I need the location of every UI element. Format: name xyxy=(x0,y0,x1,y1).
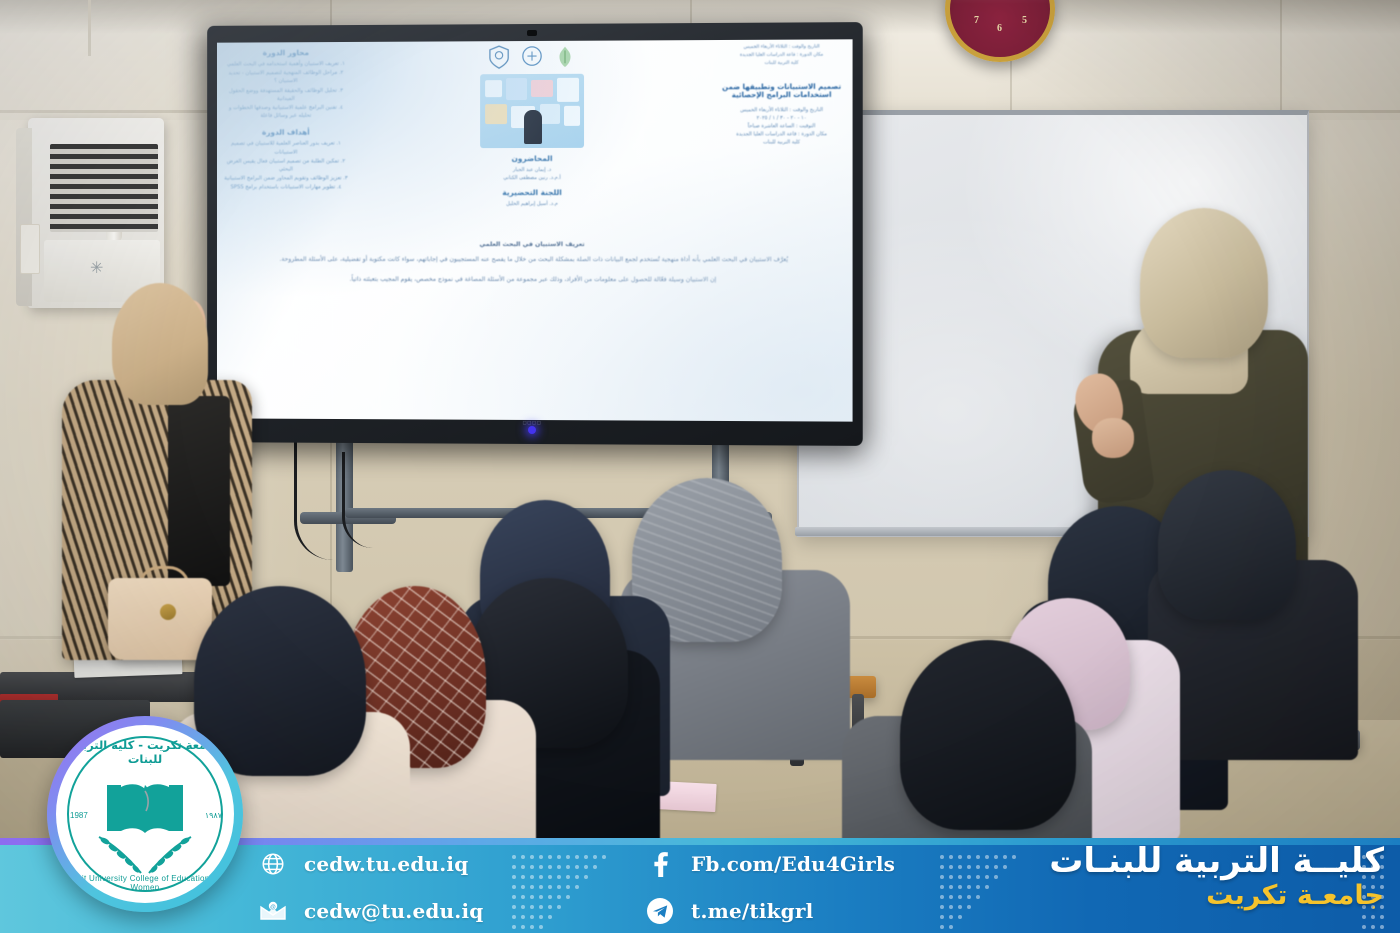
student-hijab-dark xyxy=(1158,470,1296,620)
dot-pattern-mid xyxy=(940,852,1021,933)
university-logo-seal: جامعة تكريت - كلية التربية للبنات 1987 ١… xyxy=(47,716,243,912)
slide-institution-logos xyxy=(472,45,592,70)
slide-coordinator-label: اللجنة التحضيرية xyxy=(472,188,592,197)
slide-topic-item: ٢. مراحل الوظائف المنهجية لتصميم الاستبي… xyxy=(223,69,349,86)
slide-presenter-name: د. إيمان عبد الجبار xyxy=(472,166,592,174)
board-cable xyxy=(294,440,333,560)
wall-switch xyxy=(20,224,40,274)
presentation-screen[interactable]: محاور الدورة ١. تعريف الاستبيان وأهمية ا… xyxy=(217,39,853,421)
svg-text:@: @ xyxy=(270,904,276,910)
seal-arabic-text: جامعة تكريت - كلية التربية للبنات xyxy=(56,738,234,766)
presenter-hijab xyxy=(1140,208,1268,358)
board-cable xyxy=(342,452,373,548)
college-name-arabic: كليــة التربية للبنـات xyxy=(1024,842,1384,880)
handbag-clasp xyxy=(160,604,176,620)
envelope-icon: @ xyxy=(258,896,288,926)
ministry-logo-icon xyxy=(521,45,543,69)
handbag xyxy=(108,578,212,660)
slide-body-heading: تعريف الاستبيان في البحث العلمي xyxy=(243,241,827,248)
presenter-hand xyxy=(1092,418,1134,458)
facebook-icon xyxy=(645,849,675,879)
power-led-indicator xyxy=(528,426,536,434)
camera-icon xyxy=(527,30,537,36)
slide-presenters-label: المحاضرون xyxy=(472,154,592,163)
seal-year-latin: 1987 xyxy=(70,811,88,820)
slide-objective-item: ٣. تعزيز الوظائف وتقويم المحاور ضمن البر… xyxy=(223,175,349,183)
slide-left-column: محاور الدورة ١. تعريف الاستبيان وأهمية ا… xyxy=(223,46,349,235)
facebook-handle: Fb.com/Edu4Girls xyxy=(691,852,895,876)
inner-top xyxy=(168,396,230,586)
telegram-handle: t.me/tikgrl xyxy=(691,899,813,923)
slide-detail-line: كلية التربية للبنات xyxy=(717,139,847,147)
slide-figure-icon xyxy=(524,110,542,144)
ac-grille xyxy=(50,144,158,232)
slide-topics-heading: محاور الدورة xyxy=(223,48,349,58)
college-emblem-icon xyxy=(554,45,576,69)
contact-row-website[interactable]: cedw.tu.edu.iq xyxy=(258,840,508,887)
presentation-slide: محاور الدورة ١. تعريف الاستبيان وأهمية ا… xyxy=(217,39,853,421)
clock-number: 5 xyxy=(1022,15,1027,26)
slide-topic-item: ٤. تفنين البرامج علمية الاستبيانية وصدقه… xyxy=(223,104,349,121)
slide-objective-item: ٢. تمكين الطلبة من تصميم استبيان فعال يق… xyxy=(223,157,349,174)
slide-header-text: كلية التربية للبنات xyxy=(717,59,847,67)
laurel-wreath-icon xyxy=(93,825,197,881)
contact-column: cedw.tu.edu.iq @ cedw@tu.edu.iq xyxy=(258,840,508,933)
slide-topic-item: ٣. تحليل الوظائف والحقيقة المستهدفة ووضع… xyxy=(223,86,349,103)
slide-event-title: تصميم الاستبيانات وتطبيقها ضمن استخدامات… xyxy=(717,83,847,100)
social-row-facebook[interactable]: Fb.com/Edu4Girls xyxy=(645,840,915,887)
university-crest-icon xyxy=(488,45,510,69)
ac-cord xyxy=(88,0,91,56)
hijab xyxy=(112,283,208,405)
slide-coordinator-name: م.د. أسيل إبراهيم الخليل xyxy=(472,200,592,208)
photograph-canvas: 5 6 7 ✳ محاور الدورة xyxy=(0,0,1400,933)
slide-columns: محاور الدورة ١. تعريف الاستبيان وأهمية ا… xyxy=(223,43,847,235)
university-name-arabic: جامعـة تكريت xyxy=(1024,880,1384,911)
slide-center-column: المحاضرون د. إيمان عبد الجبار أ.م.د. رني… xyxy=(472,45,592,235)
telegram-icon xyxy=(645,896,675,926)
slide-topic-item: ١. تعريف الاستبيان وأهمية استخدامه في ال… xyxy=(223,60,349,69)
clock-glare xyxy=(950,0,1050,4)
seal-english-text: Tikrit University College of Education f… xyxy=(56,874,234,892)
social-column: Fb.com/Edu4Girls t.me/tikgrl xyxy=(645,840,915,933)
slide-presenter-name: أ.م.د. رنين مصطفى الكناني xyxy=(472,174,592,182)
ac-side-panel xyxy=(16,128,32,306)
slide-objectives-heading: أهداف الدورة xyxy=(223,128,349,137)
footer-arabic-titles: كليــة التربية للبنـات جامعـة تكريت xyxy=(1024,842,1384,911)
contact-row-email[interactable]: @ cedw@tu.edu.iq xyxy=(258,887,508,933)
slide-right-column: التاريخ والوقت : الثلاثاء الأربعاء الخمي… xyxy=(717,43,847,235)
email-address: cedw@tu.edu.iq xyxy=(304,899,483,923)
seal-year-arabic: ١٩٨٧ xyxy=(205,811,222,820)
student-hijab-black xyxy=(900,640,1076,830)
slide-body-paragraph: إن الاستبيان وسيلة فعّالة للحصول على معل… xyxy=(243,274,827,285)
air-conditioner-unit: ✳ xyxy=(28,118,164,308)
slide-illustration xyxy=(480,74,584,148)
slide-objective-item: ٤. تطوير مهارات الاستبيانات باستخدام برا… xyxy=(223,184,349,192)
ac-brand-icon: ✳ xyxy=(90,258,110,278)
clock-number: 6 xyxy=(997,23,1002,34)
clock-number: 7 xyxy=(974,15,979,26)
social-row-telegram[interactable]: t.me/tikgrl xyxy=(645,887,915,933)
dot-pattern-left xyxy=(512,852,611,933)
slide-objective-item: ١. تعريف بدور العناصر العلمية للاستبيان … xyxy=(223,140,349,157)
globe-icon xyxy=(258,849,288,879)
website-url: cedw.tu.edu.iq xyxy=(304,852,468,876)
slide-body-paragraph: يُعرَّف الاستبيان في البحث العلمي بأنه أ… xyxy=(243,255,827,266)
slide-body-text: تعريف الاستبيان في البحث العلمي يُعرَّف … xyxy=(243,241,827,295)
seal-inner-disc: جامعة تكريت - كلية التربية للبنات 1987 ١… xyxy=(56,725,234,903)
interactive-smart-board[interactable]: محاور الدورة ١. تعريف الاستبيان وأهمية ا… xyxy=(207,22,863,446)
